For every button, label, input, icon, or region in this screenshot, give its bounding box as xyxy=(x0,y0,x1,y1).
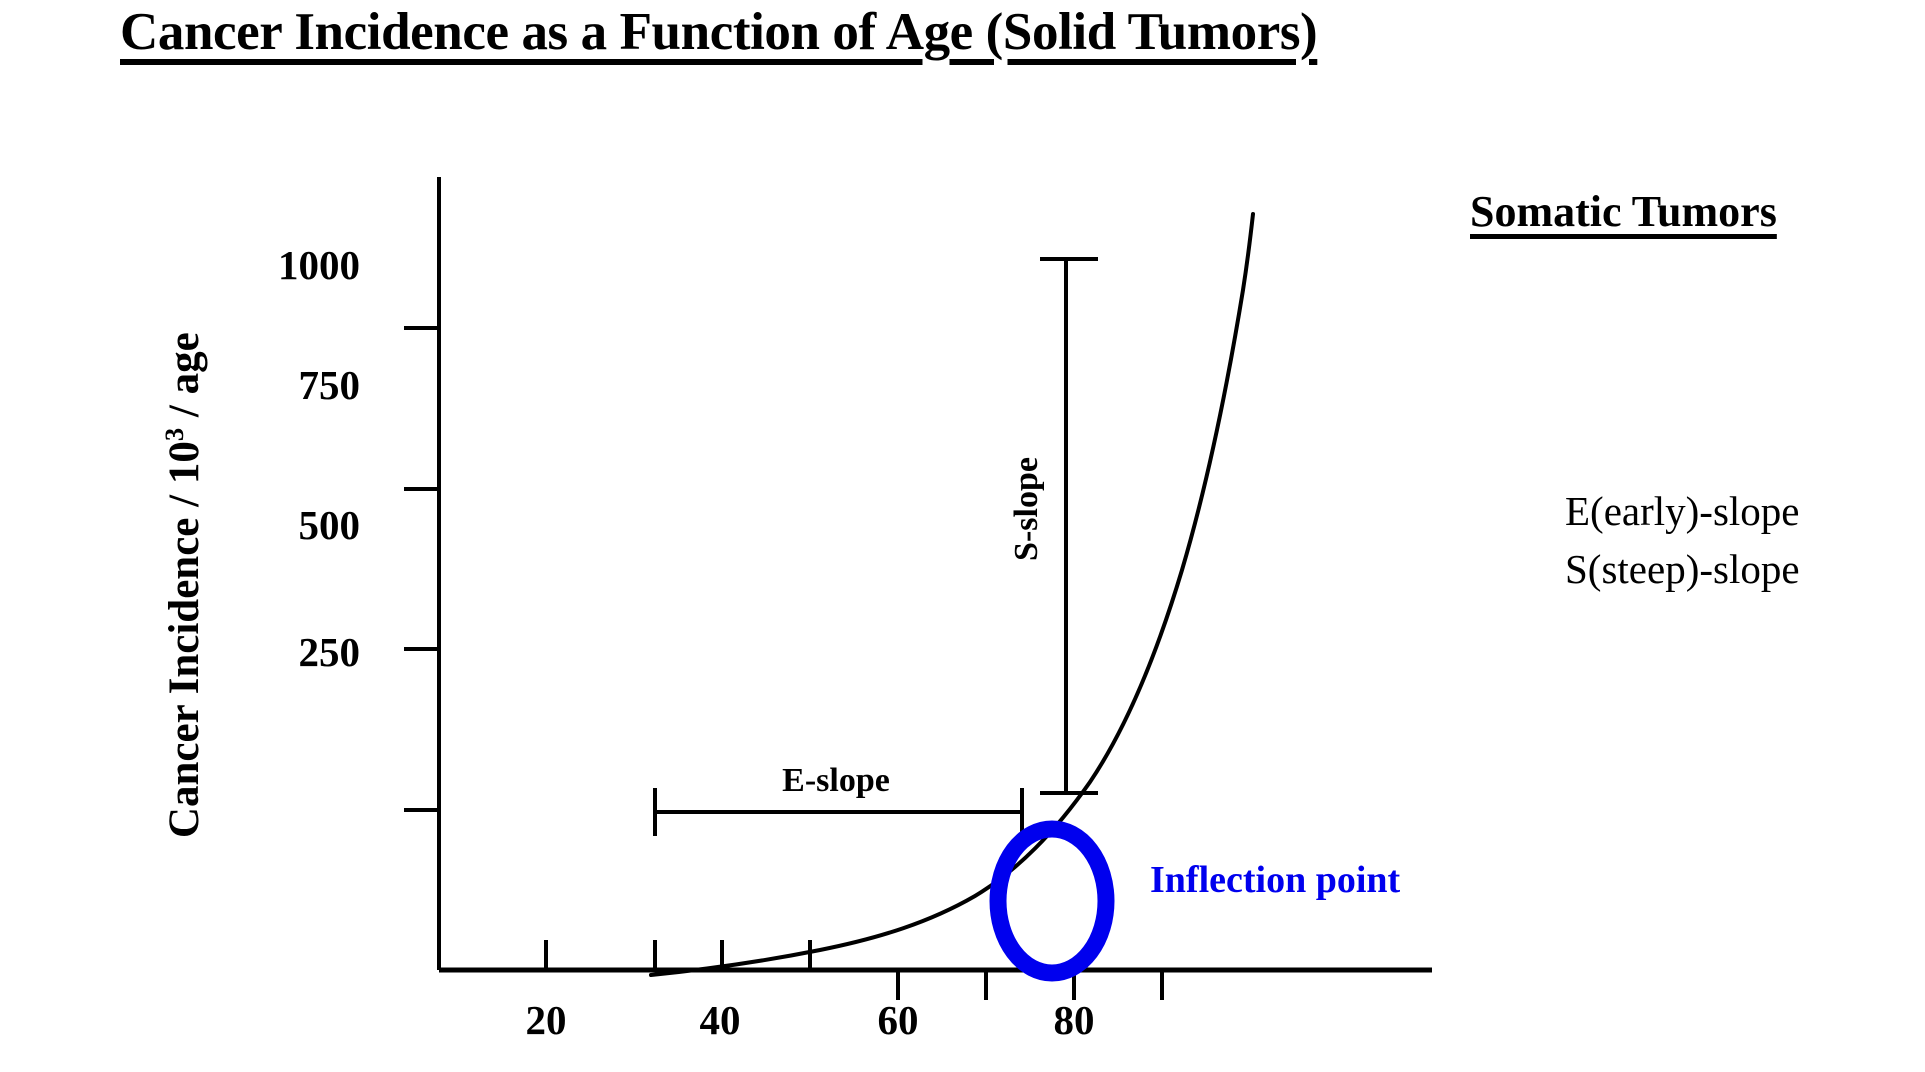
y-axis-ticks xyxy=(404,328,439,810)
legend-heading-somatic-tumors: Somatic Tumors xyxy=(1470,186,1777,237)
legend-item-s-slope: S(steep)-slope xyxy=(1565,540,1800,598)
legend-slope-definitions: E(early)-slope S(steep)-slope xyxy=(1565,482,1800,598)
legend-item-e-slope: E(early)-slope xyxy=(1565,482,1800,540)
inflection-point-ellipse xyxy=(998,829,1106,973)
s-slope-bracket xyxy=(1040,259,1098,793)
s-slope-label: S-slope xyxy=(1008,394,1046,624)
inflection-point-label: Inflection point xyxy=(1150,858,1400,902)
e-slope-label: E-slope xyxy=(706,762,966,800)
slide-canvas: Cancer Incidence as a Function of Age (S… xyxy=(0,0,1925,1072)
